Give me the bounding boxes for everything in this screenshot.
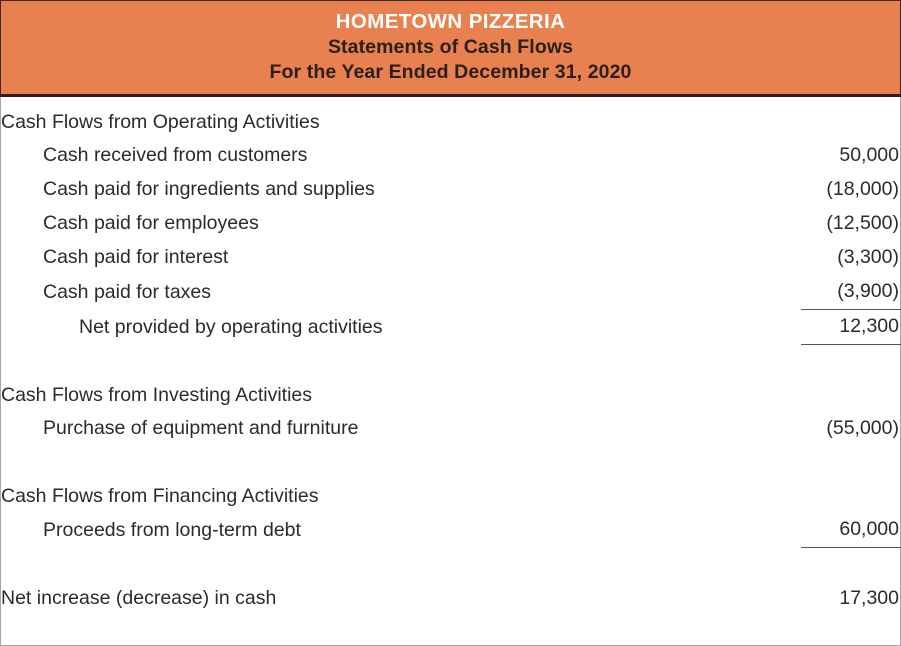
row-label: Cash Flows from Financing Activities (1, 480, 661, 513)
spacer-cell (661, 548, 901, 582)
statement-row: Cash received from customers50,000 (1, 139, 901, 173)
statement-row: Cash Flows from Operating Activities (1, 106, 901, 139)
row-amount: (12,500) (661, 207, 901, 241)
row-label: Cash paid for taxes (1, 275, 661, 310)
amount-value: 60,000 (801, 513, 901, 548)
row-amount (661, 106, 901, 139)
row-label: Net increase (decrease) in cash (1, 582, 661, 616)
amount-value: 50,000 (801, 139, 901, 173)
row-label: Proceeds from long-term debt (1, 513, 661, 548)
row-amount: (18,000) (661, 173, 901, 207)
row-label: Purchase of equipment and furniture (1, 412, 661, 446)
amount-value: (3,300) (801, 241, 901, 275)
company-name: HOMETOWN PIZZERIA (1, 9, 900, 35)
statement-body: Cash Flows from Operating ActivitiesCash… (0, 97, 901, 646)
spacer-row (1, 345, 901, 379)
amount-value: (18,000) (801, 173, 901, 207)
cash-flow-statement-card: HOMETOWN PIZZERIA Statements of Cash Flo… (0, 0, 901, 646)
row-amount: 50,000 (661, 139, 901, 173)
row-amount: 17,300 (661, 582, 901, 616)
amount-value: 17,300 (801, 582, 901, 616)
row-label: Cash paid for interest (1, 241, 661, 275)
statement-header: HOMETOWN PIZZERIA Statements of Cash Flo… (0, 0, 901, 97)
row-amount: (3,900) (661, 275, 901, 310)
spacer-cell (661, 446, 901, 480)
statement-row: Cash paid for ingredients and supplies(1… (1, 173, 901, 207)
row-label: Cash received from customers (1, 139, 661, 173)
row-label: Cash paid for employees (1, 207, 661, 241)
row-label: Net provided by operating activities (1, 310, 661, 345)
statement-row: Proceeds from long-term debt60,000 (1, 513, 901, 548)
statement-period: For the Year Ended December 31, 2020 (1, 60, 900, 85)
row-label: Cash Flows from Investing Activities (1, 379, 661, 412)
statement-row: Cash Flows from Financing Activities (1, 480, 901, 513)
statement-row: Cash paid for interest(3,300) (1, 241, 901, 275)
spacer-cell (1, 446, 661, 480)
spacer-cell (1, 548, 661, 582)
spacer-cell (1, 345, 661, 379)
spacer-row (1, 548, 901, 582)
amount-value: 12,300 (801, 310, 901, 345)
row-amount: (3,300) (661, 241, 901, 275)
statement-row: Cash paid for taxes(3,900) (1, 275, 901, 310)
amount-value: (55,000) (801, 412, 901, 446)
row-amount: (55,000) (661, 412, 901, 446)
statement-row: Net increase (decrease) in cash17,300 (1, 582, 901, 616)
cash-flow-rows-body: Cash Flows from Operating ActivitiesCash… (1, 106, 901, 616)
statement-row: Cash Flows from Investing Activities (1, 379, 901, 412)
statement-row: Net provided by operating activities12,3… (1, 310, 901, 345)
amount-value: (12,500) (801, 207, 901, 241)
row-amount (661, 480, 901, 513)
row-amount: 60,000 (661, 513, 901, 548)
row-label: Cash Flows from Operating Activities (1, 106, 661, 139)
spacer-row (1, 446, 901, 480)
statement-title: Statements of Cash Flows (1, 35, 900, 60)
spacer-cell (661, 345, 901, 379)
statement-row: Purchase of equipment and furniture(55,0… (1, 412, 901, 446)
statement-row: Cash paid for employees(12,500) (1, 207, 901, 241)
row-label: Cash paid for ingredients and supplies (1, 173, 661, 207)
row-amount: 12,300 (661, 310, 901, 345)
row-amount (661, 379, 901, 412)
cash-flow-rows-table: Cash Flows from Operating ActivitiesCash… (1, 106, 901, 616)
amount-value: (3,900) (801, 275, 901, 310)
